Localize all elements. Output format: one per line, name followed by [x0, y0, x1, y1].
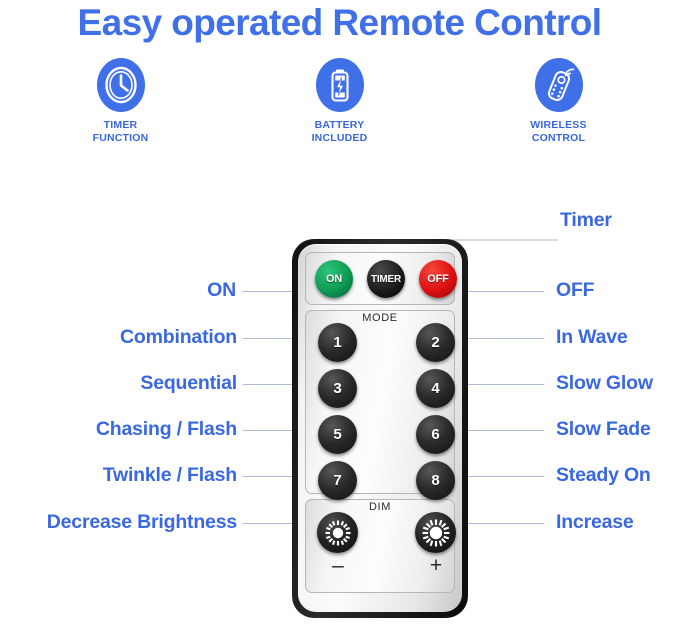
- callout-decrease-brightness: Decrease Brightness: [47, 511, 237, 534]
- callout-off: OFF: [556, 279, 594, 302]
- brightness-icon: [421, 518, 451, 548]
- button-dim-decrease[interactable]: [317, 512, 358, 553]
- product-infographic: Easy operated Remote Control TIMER FUNCT…: [0, 0, 679, 635]
- feature-wireless-control: WIRELESS CONTROL: [505, 58, 613, 144]
- brightness-icon: [323, 518, 353, 548]
- callout-slow-glow: Slow Glow: [556, 372, 653, 395]
- feature-timer-function: TIMER FUNCTION: [67, 58, 175, 144]
- feature-label: WIRELESS CONTROL: [530, 119, 586, 144]
- callout-sequential: Sequential: [140, 372, 237, 395]
- remote-faceplate: ON TIMER OFF MODE 1 2 3 4 5 6 7 8 DIM: [298, 244, 462, 612]
- feature-battery-included: BATTERY INCLUDED: [286, 58, 394, 144]
- button-mode-2[interactable]: 2: [416, 323, 455, 362]
- button-off[interactable]: OFF: [419, 260, 457, 298]
- battery-icon: [316, 58, 364, 112]
- callout-chasing-flash: Chasing / Flash: [96, 418, 237, 441]
- dim-minus-label: –: [318, 556, 358, 576]
- button-on[interactable]: ON: [315, 260, 353, 298]
- callout-increase: Increase: [556, 511, 634, 534]
- clock-icon: [97, 58, 145, 112]
- button-mode-1[interactable]: 1: [318, 323, 357, 362]
- feature-label: BATTERY INCLUDED: [312, 119, 368, 144]
- callout-on: ON: [207, 279, 236, 302]
- callout-twinkle-flash: Twinkle / Flash: [103, 464, 237, 487]
- feature-badge-row: TIMER FUNCTION BATTERY INCLUDED: [0, 58, 679, 144]
- callout-slow-fade: Slow Fade: [556, 418, 651, 441]
- remote-control: ON TIMER OFF MODE 1 2 3 4 5 6 7 8 DIM: [292, 239, 468, 618]
- feature-label: TIMER FUNCTION: [93, 119, 149, 144]
- page-title: Easy operated Remote Control: [0, 0, 679, 46]
- button-mode-6[interactable]: 6: [416, 415, 455, 454]
- button-mode-8[interactable]: 8: [416, 461, 455, 500]
- button-mode-5[interactable]: 5: [318, 415, 357, 454]
- callout-combination: Combination: [120, 326, 237, 349]
- callout-steady-on: Steady On: [556, 464, 651, 487]
- remote-signal-icon: [535, 58, 583, 112]
- button-mode-3[interactable]: 3: [318, 369, 357, 408]
- button-mode-7[interactable]: 7: [318, 461, 357, 500]
- callout-in-wave: In Wave: [556, 326, 628, 349]
- button-dim-increase[interactable]: [415, 512, 456, 553]
- button-timer[interactable]: TIMER: [367, 260, 405, 298]
- button-mode-4[interactable]: 4: [416, 369, 455, 408]
- callout-timer: Timer: [560, 209, 612, 232]
- dim-plus-label: +: [416, 556, 456, 576]
